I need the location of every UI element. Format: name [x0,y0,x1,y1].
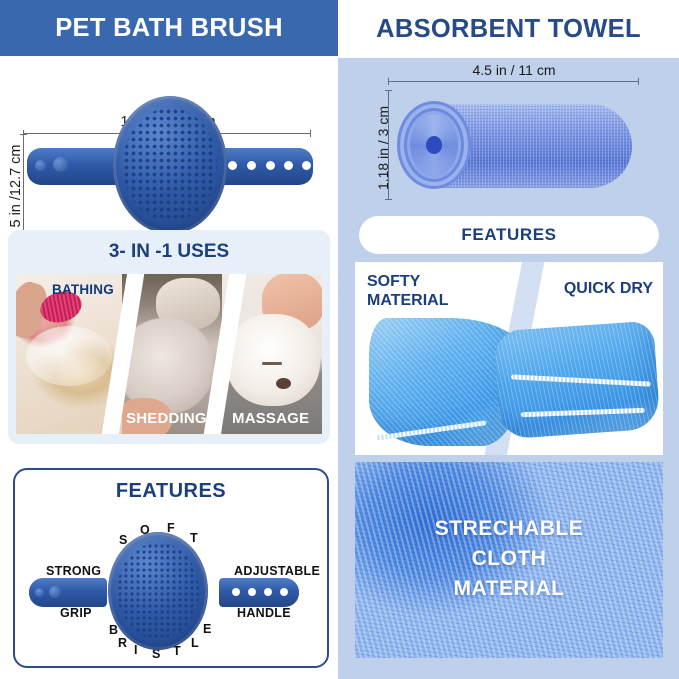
brush-pad-rim [108,532,208,650]
brush-dimension-panel: 10.5 in / 27 cm 5 in /12.7 cm [0,56,338,228]
stretchable-line-1: STRECHABLE [355,514,663,544]
photo-label-massage: MASSAGE [232,410,309,427]
left-header-bar: PET BATH BRUSH [0,0,338,56]
right-header-bar: ABSORBENT TOWEL [338,0,679,58]
brush-features-panel: FEATURES S O F T B R I S T L E STRONG GR… [13,468,329,668]
photo-label-shedding: SHEDDING [126,410,207,427]
towel-width-label: 4.5 in / 11 cm [384,62,644,78]
stretchable-cloth-text: STRECHABLE CLOTH MATERIAL [355,514,663,604]
brush-height-label: 5 in /12.7 cm [8,126,24,246]
right-header-title: ABSORBENT TOWEL [376,15,641,44]
brush-strap-hole [232,588,240,596]
towel-features-label: FEATURES [461,225,556,245]
brush-strap-hole [266,161,275,170]
label-softy-material: SOFTY MATERIAL [367,272,448,310]
brush-strap-hole [248,588,256,596]
brush-pad-rim [113,96,227,234]
towel-height-label: 1.18 in / 3 cm [375,83,391,213]
brush-strap-bump [53,157,68,172]
brush-strap-hole [228,161,237,170]
suds-shape [26,326,112,386]
label-quick-dry: QUICK DRY [564,280,653,298]
brush-strap-bump [49,586,61,598]
brush-features-title: FEATURES [15,480,327,503]
uses-panel-title: 3- IN -1 USES [8,241,330,263]
brush-strap-hole [264,588,272,596]
stretchable-cloth-panel: STRECHABLE CLOTH MATERIAL [355,462,663,658]
rolled-towel-illustration [402,104,632,188]
left-column: PET BATH BRUSH 10.5 in / 27 cm 5 in /12.… [0,0,338,679]
bath-brush-features-illustration [29,532,301,650]
dog-shape [226,314,320,406]
label-softy-line2: MATERIAL [367,291,448,310]
bath-brush-illustration [25,96,315,236]
dog-nose-shape [276,378,291,389]
label-softy-line1: SOFTY [367,272,448,291]
brush-bristle-pad [108,532,208,650]
brush-strap-hole [280,588,288,596]
dog-eye-shape [262,362,282,365]
brush-strap-hole [247,161,256,170]
uses-photo-strip: BATHING SHEDDING MASSAGE [16,274,322,434]
brush-strap-bump [35,160,46,171]
towel-width-dimension-line [388,81,639,82]
left-header-title: PET BATH BRUSH [55,14,283,43]
brush-strap-hole [284,161,293,170]
stretchable-line-2: CLOTH [355,544,663,574]
towel-cloth-features-panel: SOFTY MATERIAL QUICK DRY [355,262,663,455]
three-in-one-uses-panel: 3- IN -1 USES [8,230,330,444]
brush-strap-hole [302,161,311,170]
photo-label-bathing: BATHING [52,282,114,297]
product-infographic: PET BATH BRUSH 10.5 in / 27 cm 5 in /12.… [0,0,679,679]
towel-roll-core [426,136,442,154]
stretchable-line-3: MATERIAL [355,574,663,604]
brush-bristle-pad [113,96,227,234]
brush-strap-bump [35,588,44,597]
towel-features-pill: FEATURES [359,216,659,254]
